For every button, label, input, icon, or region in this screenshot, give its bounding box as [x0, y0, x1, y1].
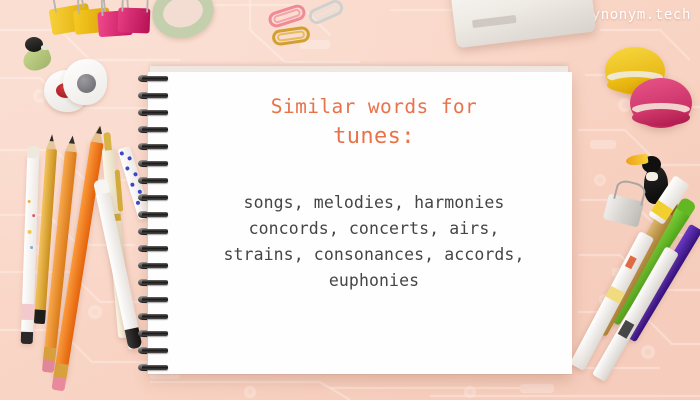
brand-watermark: Synonym.tech [583, 7, 691, 23]
notebook-spiral-binding [138, 76, 174, 368]
spiral-ring [138, 263, 172, 269]
card-heading-line1: Similar words for [178, 92, 570, 122]
spiral-ring [138, 195, 172, 201]
egg-eraser-gray-icon [63, 59, 107, 105]
synonym-line: euphonies [178, 268, 570, 294]
bird-eraser-green-icon [19, 38, 53, 72]
synonym-card: Similar words for tunes: songs, melodies… [178, 92, 570, 294]
card-query-word: tunes: [178, 122, 570, 152]
binder-clip-pink-icon [115, 2, 154, 35]
spiral-ring [138, 297, 172, 303]
spiral-ring [138, 348, 172, 354]
spiral-ring [138, 144, 172, 150]
spiral-ring [138, 365, 172, 371]
spiral-ring [138, 93, 172, 99]
spiral-ring [138, 314, 172, 320]
synonym-line: concords, concerts, airs, [178, 216, 570, 242]
spiral-ring [138, 161, 172, 167]
spiral-ring [138, 110, 172, 116]
spiral-ring [138, 76, 172, 82]
spiral-ring [138, 212, 172, 218]
macaron-pink-icon [630, 78, 692, 128]
spiral-ring [138, 280, 172, 286]
synonym-line: strains, consonances, accords, [178, 242, 570, 268]
spiral-ring [138, 178, 172, 184]
synonym-line: songs, melodies, harmonies [178, 190, 570, 216]
spiral-ring [138, 246, 172, 252]
screenshot-canvas: Synonym.tech [0, 0, 700, 400]
spiral-ring [138, 331, 172, 337]
synonym-list: songs, melodies, harmonies concords, con… [178, 190, 570, 294]
spiral-ring [138, 229, 172, 235]
spiral-ring [138, 127, 172, 133]
